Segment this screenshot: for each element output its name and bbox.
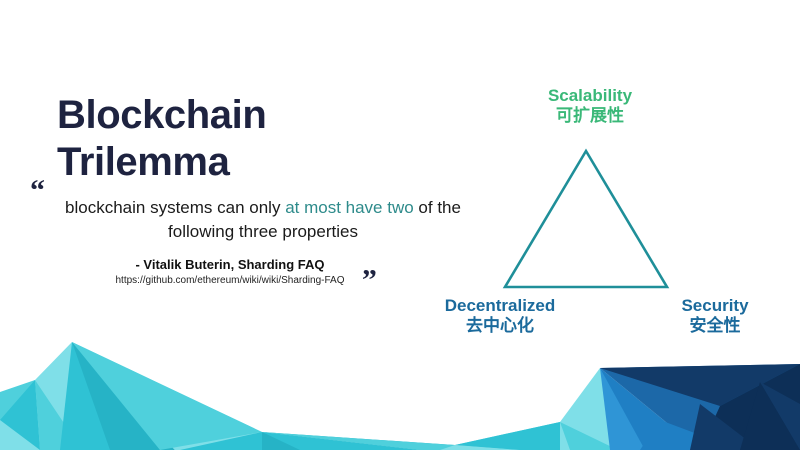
vertex-label-security-en: Security <box>625 296 800 316</box>
slide-canvas: Blockchain Trilemma “ “ blockchain syste… <box>0 0 800 450</box>
trilemma-diagram: Scalability 可扩展性 Decentralized 去中心化 Secu… <box>395 60 795 360</box>
decorative-mountains <box>0 320 800 450</box>
vertex-label-scalability-en: Scalability <box>490 86 690 106</box>
page-title: Blockchain Trilemma <box>57 92 387 186</box>
title-line-2: Trilemma <box>57 139 387 186</box>
attribution-author: - Vitalik Buterin, Sharding FAQ <box>80 256 380 274</box>
triangle-outline <box>505 151 667 287</box>
quote-text-before: blockchain systems can only <box>65 198 285 217</box>
title-line-1: Blockchain <box>57 92 387 139</box>
vertex-label-scalability: Scalability 可扩展性 <box>490 86 690 127</box>
quote-attribution: - Vitalik Buterin, Sharding FAQ https://… <box>80 256 380 288</box>
vertex-label-scalability-zh: 可扩展性 <box>490 106 690 126</box>
vertex-label-decentralized-en: Decentralized <box>390 296 610 316</box>
quote-open-icon: “ <box>30 176 45 206</box>
attribution-url: https://github.com/ethereum/wiki/wiki/Sh… <box>80 274 380 288</box>
